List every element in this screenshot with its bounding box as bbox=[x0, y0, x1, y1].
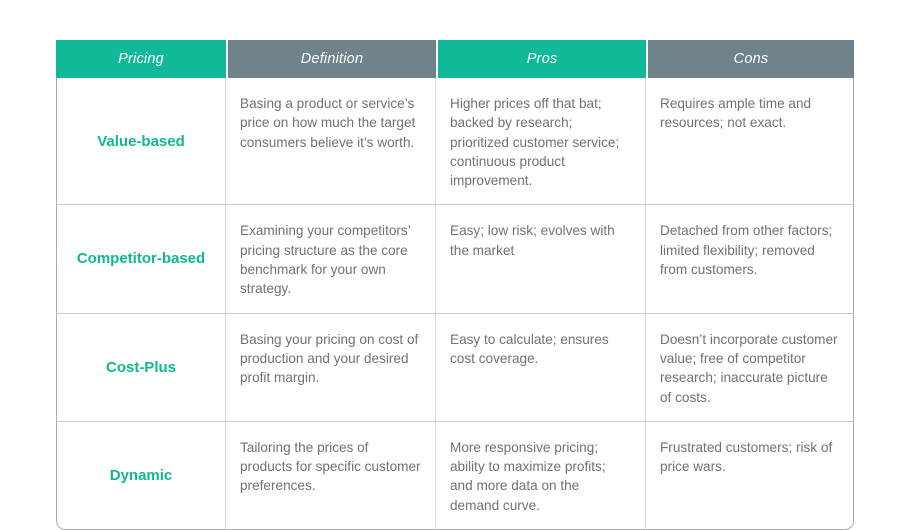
cell-cons: Frustrated customers; risk of price wars… bbox=[646, 422, 854, 530]
column-header-definition[interactable]: Definition bbox=[226, 40, 436, 78]
table-row: Cost-Plus Basing your pricing on cost of… bbox=[56, 314, 854, 422]
row-label-cost-plus: Cost-Plus bbox=[56, 314, 226, 422]
column-header-definition-label: Definition bbox=[228, 40, 436, 78]
table-row: Value-based Basing a product or service’… bbox=[56, 78, 854, 205]
table-body: Value-based Basing a product or service’… bbox=[56, 78, 854, 530]
cell-cons: Requires ample time and resources; not e… bbox=[646, 78, 854, 205]
cell-definition: Basing your pricing on cost of productio… bbox=[226, 314, 436, 422]
cell-definition: Tailoring the prices of products for spe… bbox=[226, 422, 436, 530]
table-row: Competitor-based Examining your competit… bbox=[56, 205, 854, 313]
row-label-dynamic: Dynamic bbox=[56, 422, 226, 530]
column-header-pricing[interactable]: Pricing bbox=[56, 40, 226, 78]
row-label-competitor-based: Competitor-based bbox=[56, 205, 226, 313]
pricing-strategy-table: Pricing Definition Pros Cons Value-based… bbox=[56, 40, 854, 530]
row-label-value-based: Value-based bbox=[56, 78, 226, 205]
column-header-cons[interactable]: Cons bbox=[646, 40, 854, 78]
cell-definition: Basing a product or service’s price on h… bbox=[226, 78, 436, 205]
cell-cons: Detached from other factors; limited fle… bbox=[646, 205, 854, 313]
cell-pros: Higher prices off that bat; backed by re… bbox=[436, 78, 646, 205]
pricing-strategy-table-container: Pricing Definition Pros Cons Value-based… bbox=[56, 40, 848, 456]
column-header-pros-label: Pros bbox=[438, 40, 646, 78]
column-header-cons-label: Cons bbox=[648, 40, 854, 78]
column-header-pros[interactable]: Pros bbox=[436, 40, 646, 78]
table-row: Dynamic Tailoring the prices of products… bbox=[56, 422, 854, 530]
column-header-pricing-label: Pricing bbox=[56, 40, 226, 78]
cell-cons: Doesn’t incorporate customer value; free… bbox=[646, 314, 854, 422]
table-header-row-group: Pricing Definition Pros Cons bbox=[56, 40, 854, 78]
cell-pros: Easy; low risk; evolves with the market bbox=[436, 205, 646, 313]
table-header-row: Pricing Definition Pros Cons bbox=[56, 40, 854, 78]
cell-definition: Examining your competitors’ pricing stru… bbox=[226, 205, 436, 313]
cell-pros: Easy to calculate; ensures cost coverage… bbox=[436, 314, 646, 422]
cell-pros: More responsive pricing; ability to maxi… bbox=[436, 422, 646, 530]
